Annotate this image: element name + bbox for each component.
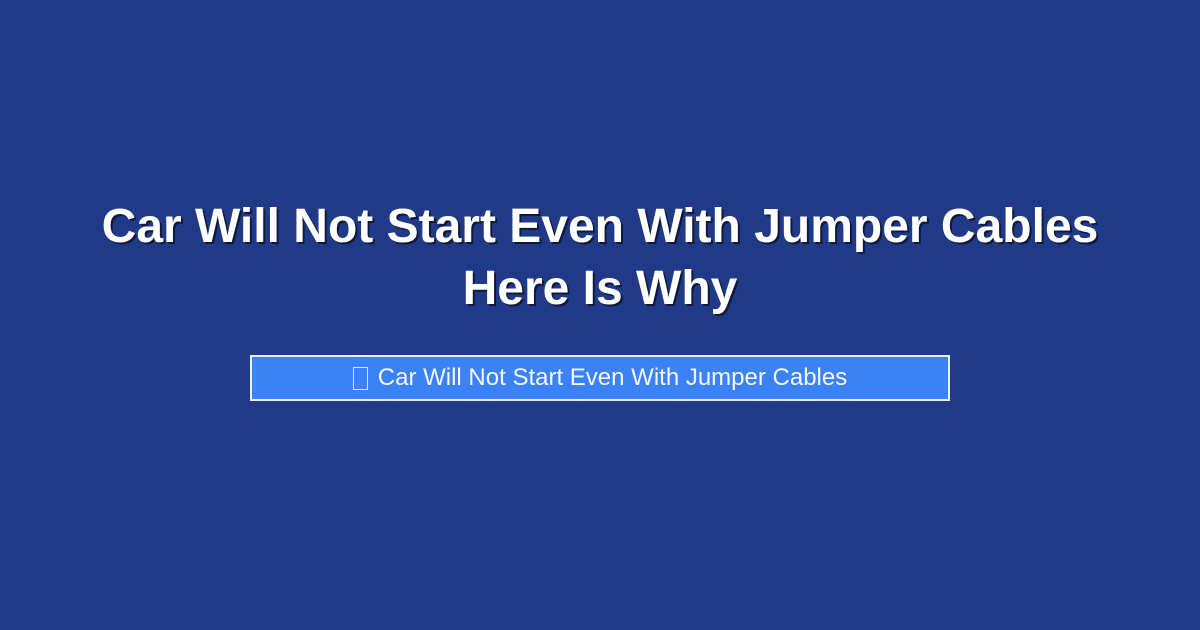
cta-button-label: Car Will Not Start Even With Jumper Cabl… [378,366,847,390]
cta-row: Car Will Not Start Even With Jumper Cabl… [0,355,1200,401]
missing-glyph-tofu-icon [353,367,368,390]
social-share-card: Car Will Not Start Even With Jumper Cabl… [0,0,1200,630]
page-title: Car Will Not Start Even With Jumper Cabl… [50,196,1150,320]
cta-button[interactable]: Car Will Not Start Even With Jumper Cabl… [250,355,950,401]
